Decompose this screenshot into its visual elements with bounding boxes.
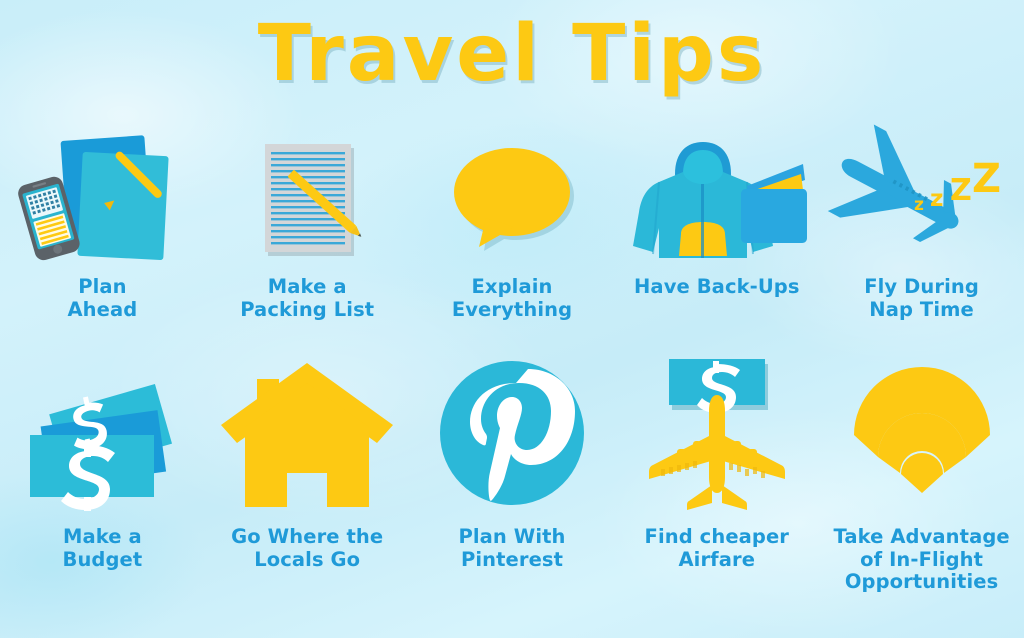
tip-caption: Plan With Pinterest (458, 526, 565, 571)
tip-fly-during-nap-time[interactable]: z z Z Z Fly During Nap Time (819, 130, 1024, 321)
airplane-zzz-icon: z z Z Z (822, 130, 1022, 270)
pinterest-logo-icon (412, 355, 612, 520)
page-title: Travel Tips (0, 14, 1024, 96)
sleep-z-large-text: Z (950, 173, 972, 208)
wifi-icon (822, 355, 1022, 520)
tip-caption: Fly During Nap Time (864, 276, 979, 321)
money-bills-icon (2, 355, 202, 520)
tip-find-cheaper-airfare[interactable]: Find cheaper Airfare (614, 355, 819, 594)
tip-go-where-locals-go[interactable]: Go Where the Locals Go (205, 355, 410, 594)
tips-row-second: Make a Budget Go Where the Locals Go (0, 355, 1024, 594)
sleep-z-medium-text: z (930, 186, 943, 212)
lined-paper-pencil-icon (207, 130, 407, 270)
tips-row-first: Plan Ahead (0, 130, 1024, 321)
tip-plan-with-pinterest[interactable]: Plan With Pinterest (410, 355, 615, 594)
tip-make-a-budget[interactable]: Make a Budget (0, 355, 205, 594)
tip-caption: Find cheaper Airfare (645, 526, 789, 571)
tip-caption: Take Advantage of In-Flight Opportunitie… (833, 526, 1009, 594)
tip-caption: Go Where the Locals Go (231, 526, 383, 571)
tip-have-back-ups[interactable]: Have Back-Ups (614, 130, 819, 321)
hoodie-wallet-icon (617, 130, 817, 270)
sleep-z-largest-text: Z (972, 156, 1001, 202)
tip-caption: Make a Packing List (240, 276, 374, 321)
tip-caption: Make a Budget (62, 526, 142, 571)
poster-canvas: Travel Tips (0, 0, 1024, 638)
tip-explain-everything[interactable]: Explain Everything (410, 130, 615, 321)
notepad-phone-pencil-icon (2, 130, 202, 270)
tip-in-flight-opportunities[interactable]: Take Advantage of In-Flight Opportunitie… (819, 355, 1024, 594)
airplane-dollar-icon (617, 355, 817, 520)
house-icon (207, 355, 407, 520)
speech-bubble-icon (412, 130, 612, 270)
tip-caption: Plan Ahead (67, 276, 137, 321)
tip-plan-ahead[interactable]: Plan Ahead (0, 130, 205, 321)
tip-caption: Have Back-Ups (634, 276, 800, 299)
tip-caption: Explain Everything (452, 276, 572, 321)
tip-make-packing-list[interactable]: Make a Packing List (205, 130, 410, 321)
sleep-z-small-text: z (914, 195, 924, 215)
